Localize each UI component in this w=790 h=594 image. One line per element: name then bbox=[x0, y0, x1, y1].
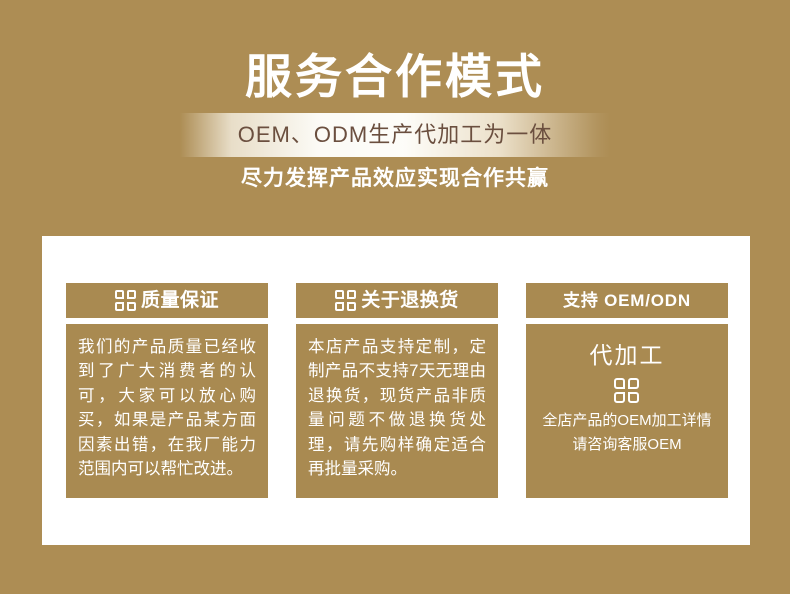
card-body-text: 我们的产品质量已经收到了广大消费者的认可，大家可以放心购买，如果是产品某方面因素… bbox=[66, 324, 268, 498]
subtitle-text: OEM、ODM生产代加工为一体 bbox=[238, 121, 552, 149]
card-body-text: 本店产品支持定制，定制产品不支持7天无理由退换货，现货产品非质量问题不做退换货处… bbox=[296, 324, 498, 498]
card-oem-odn-support: 支持 OEM/ODN 代加工 全店产品的OEM加工详情请咨询客服OEM bbox=[526, 283, 728, 498]
card-returns-exchanges: 关于退换货 本店产品支持定制，定制产品不支持7天无理由退换货，现货产品非质量问题… bbox=[296, 283, 498, 498]
grid-squares-icon bbox=[614, 378, 640, 403]
card-title: 支持 OEM/ODN bbox=[563, 289, 691, 313]
banner-header: 服务合作模式 OEM、ODM生产代加工为一体 尽力发挥产品效应实现合作共赢 bbox=[0, 0, 790, 232]
content-panel: 质量保证 我们的产品质量已经收到了广大消费者的认可，大家可以放心购买，如果是产品… bbox=[42, 236, 750, 545]
card-quality-guarantee: 质量保证 我们的产品质量已经收到了广大消费者的认可，大家可以放心购买，如果是产品… bbox=[66, 283, 268, 498]
card-big-label: 代加工 bbox=[590, 340, 665, 370]
card-title: 关于退换货 bbox=[361, 289, 459, 313]
grid-squares-icon bbox=[335, 290, 357, 311]
subtitle-band: OEM、ODM生产代加工为一体 bbox=[180, 113, 610, 157]
card-body-text: 全店产品的OEM加工详情请咨询客服OEM bbox=[538, 409, 716, 457]
card-title: 质量保证 bbox=[141, 289, 219, 313]
page-title: 服务合作模式 bbox=[0, 47, 790, 107]
tagline-text: 尽力发挥产品效应实现合作共赢 bbox=[0, 164, 790, 194]
card-header: 关于退换货 bbox=[296, 283, 498, 318]
card-header: 支持 OEM/ODN bbox=[526, 283, 728, 318]
grid-squares-icon bbox=[115, 290, 137, 311]
card-header: 质量保证 bbox=[66, 283, 268, 318]
cards-row: 质量保证 我们的产品质量已经收到了广大消费者的认可，大家可以放心购买，如果是产品… bbox=[66, 283, 728, 498]
card-body-center: 代加工 全店产品的OEM加工详情请咨询客服OEM bbox=[526, 324, 728, 498]
promo-banner: 服务合作模式 OEM、ODM生产代加工为一体 尽力发挥产品效应实现合作共赢 质量… bbox=[0, 0, 790, 594]
